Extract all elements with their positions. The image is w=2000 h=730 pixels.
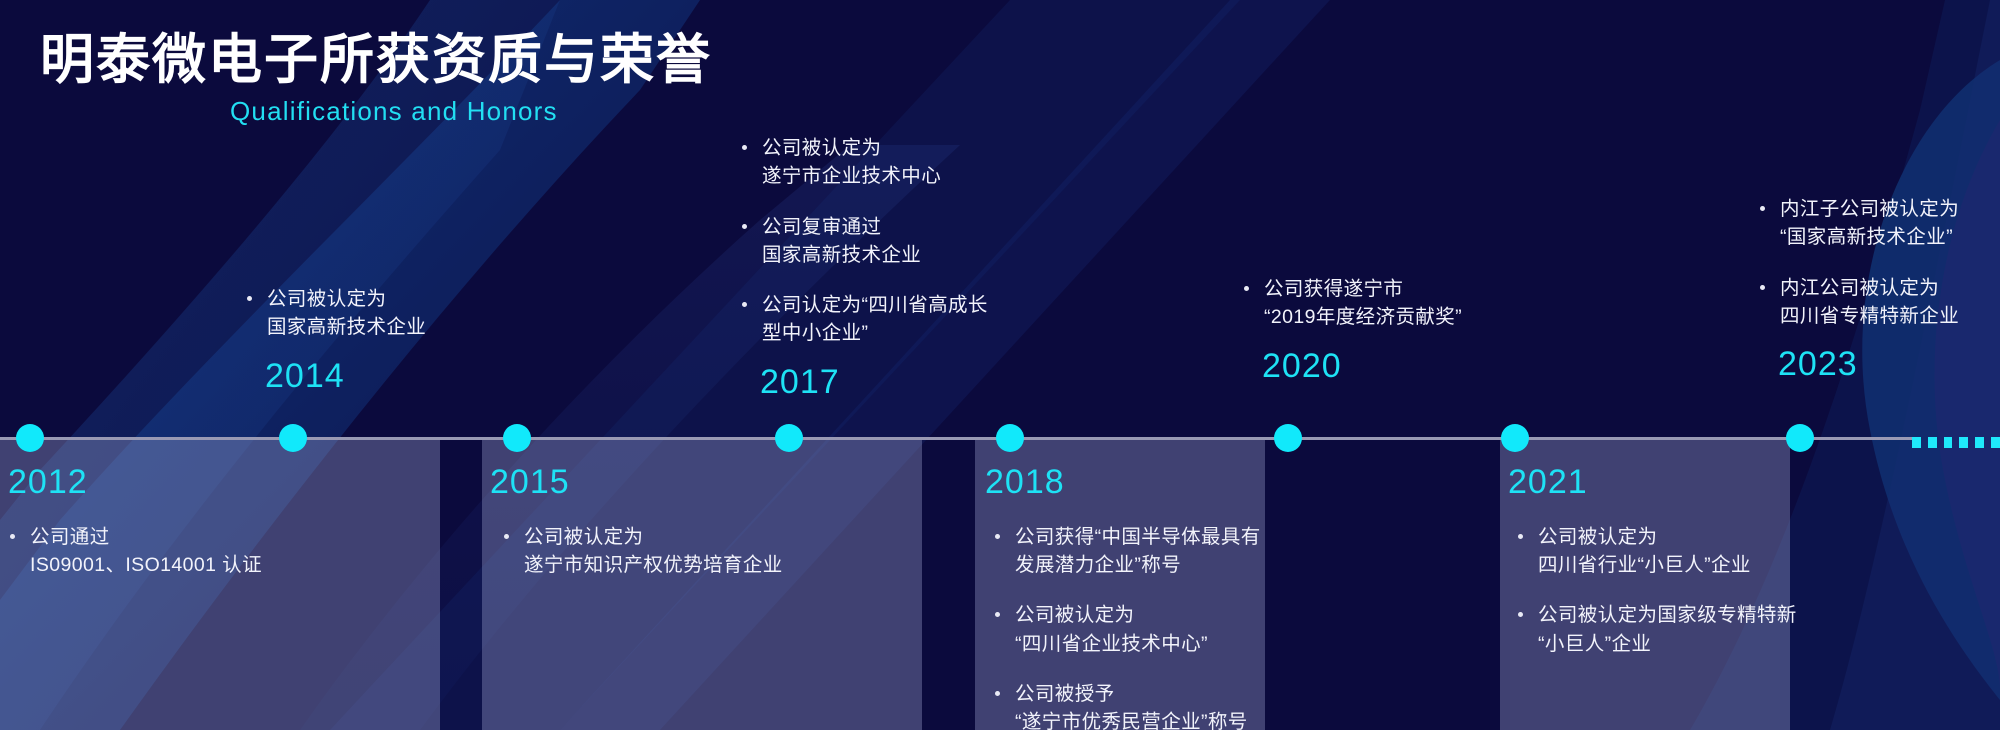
- bullet-list: 公司获得“中国半导体最具有 发展潜力企业”称号 公司被认定为 “四川省企业技术中…: [985, 523, 1285, 730]
- year-label: 2014: [245, 356, 515, 397]
- timeline-node-2015[interactable]: [503, 424, 531, 452]
- year-label: 2021: [1508, 462, 1828, 503]
- year-label: 2017: [740, 362, 1030, 403]
- bullet-list: 公司被认定为 四川省行业“小巨人”企业 公司被认定为国家级专精特新 “小巨人”企…: [1508, 523, 1828, 658]
- list-item: 公司获得遂宁市 “2019年度经济贡献奖”: [1242, 275, 1532, 332]
- bullet-line: “遂宁市优秀民营企业”称号: [1015, 708, 1285, 730]
- timeline-node-2018[interactable]: [996, 424, 1024, 452]
- bullet-line: “小巨人”企业: [1538, 630, 1828, 658]
- axis-dash-segment: [1928, 437, 1937, 448]
- axis-dash-segment: [1959, 437, 1968, 448]
- bullet-line: 公司被认定为: [524, 523, 790, 551]
- list-item: 公司被认定为 遂宁市企业技术中心: [740, 134, 1030, 191]
- year-label: 2012: [8, 462, 438, 503]
- timeline-entry-2014[interactable]: 公司被认定为 国家高新技术企业 2014: [245, 285, 515, 396]
- bullet-line: 公司复审通过: [762, 213, 1030, 241]
- bullet-list: 公司被认定为 国家高新技术企业: [245, 285, 515, 342]
- timeline-node-2021[interactable]: [1501, 424, 1529, 452]
- bullet-line: 公司获得“中国半导体最具有: [1015, 523, 1285, 551]
- bullet-line: 公司被认定为: [762, 134, 1030, 162]
- year-label: 2023: [1758, 344, 2000, 385]
- list-item: 公司被认定为 四川省行业“小巨人”企业: [1516, 523, 1828, 580]
- axis-dash-segment: [1944, 437, 1953, 448]
- timeline-infographic: 明泰微电子所获资质与荣誉 Qualifications and Honors 2…: [0, 0, 2000, 730]
- timeline-node-2017[interactable]: [775, 424, 803, 452]
- list-item: 内江公司被认定为 四川省专精特新企业: [1758, 274, 2000, 331]
- bullet-line: 公司被认定为国家级专精特新: [1538, 601, 1828, 629]
- bullet-list: 公司获得遂宁市 “2019年度经济贡献奖”: [1242, 275, 1532, 332]
- list-item: 公司复审通过 国家高新技术企业: [740, 213, 1030, 270]
- timeline-entry-2017[interactable]: 公司被认定为 遂宁市企业技术中心 公司复审通过 国家高新技术企业 公司认定为“四…: [740, 134, 1030, 402]
- bullet-list: 公司被认定为 遂宁市企业技术中心 公司复审通过 国家高新技术企业 公司认定为“四…: [740, 134, 1030, 348]
- bullet-line: 公司被认定为: [1538, 523, 1828, 551]
- axis-dash-segment: [1991, 437, 2000, 448]
- timeline-entry-2018[interactable]: 2018 公司获得“中国半导体最具有 发展潜力企业”称号 公司被认定为 “四川省…: [985, 462, 1285, 730]
- bullet-line: 内江公司被认定为: [1780, 274, 2000, 302]
- list-item: 公司认定为“四川省高成长 型中小企业”: [740, 291, 1030, 348]
- timeline-entry-2012[interactable]: 2012 公司通过 IS09001、ISO14001 认证: [8, 462, 438, 579]
- year-label: 2015: [490, 462, 790, 503]
- list-item: 公司被授予 “遂宁市优秀民营企业”称号: [993, 680, 1285, 730]
- bullet-line: 国家高新技术企业: [762, 241, 1030, 269]
- list-item: 公司被认定为国家级专精特新 “小巨人”企业: [1516, 601, 1828, 658]
- list-item: 公司获得“中国半导体最具有 发展潜力企业”称号: [993, 523, 1285, 580]
- timeline-node-2012[interactable]: [16, 424, 44, 452]
- bullet-line: 公司获得遂宁市: [1264, 275, 1532, 303]
- bullet-line: “2019年度经济贡献奖”: [1264, 303, 1532, 331]
- bullet-line: 公司被认定为: [1015, 601, 1285, 629]
- list-item: 公司被认定为 “四川省企业技术中心”: [993, 601, 1285, 658]
- timeline-entry-2015[interactable]: 2015 公司被认定为 遂宁市知识产权优势培育企业: [490, 462, 790, 579]
- year-label: 2020: [1242, 346, 1532, 387]
- list-item: 公司被认定为 国家高新技术企业: [245, 285, 515, 342]
- timeline-axis-dashes: [1912, 437, 2000, 448]
- timeline-entry-2023[interactable]: 内江子公司被认定为 “国家高新技术企业” 内江公司被认定为 四川省专精特新企业 …: [1758, 195, 2000, 385]
- bullet-line: 公司被授予: [1015, 680, 1285, 708]
- bullet-line: 公司被认定为: [267, 285, 515, 313]
- timeline-node-2014[interactable]: [279, 424, 307, 452]
- list-item: 公司被认定为 遂宁市知识产权优势培育企业: [502, 523, 790, 580]
- bullet-line: “国家高新技术企业”: [1780, 223, 2000, 251]
- bullet-list: 公司被认定为 遂宁市知识产权优势培育企业: [490, 523, 790, 580]
- page-subtitle: Qualifications and Honors: [230, 96, 712, 127]
- timeline-entry-2020[interactable]: 公司获得遂宁市 “2019年度经济贡献奖” 2020: [1242, 275, 1532, 386]
- bullet-line: IS09001、ISO14001 认证: [30, 551, 438, 579]
- timeline-entry-2021[interactable]: 2021 公司被认定为 四川省行业“小巨人”企业 公司被认定为国家级专精特新 “…: [1508, 462, 1828, 658]
- year-label: 2018: [985, 462, 1285, 503]
- bullet-list: 公司通过 IS09001、ISO14001 认证: [8, 523, 438, 580]
- bullet-line: 四川省专精特新企业: [1780, 302, 2000, 330]
- axis-dash-segment: [1975, 437, 1984, 448]
- list-item: 内江子公司被认定为 “国家高新技术企业”: [1758, 195, 2000, 252]
- bullet-line: 公司认定为“四川省高成长: [762, 291, 1030, 319]
- bullet-line: 四川省行业“小巨人”企业: [1538, 551, 1828, 579]
- bullet-list: 内江子公司被认定为 “国家高新技术企业” 内江公司被认定为 四川省专精特新企业: [1758, 195, 2000, 330]
- axis-dash-segment: [1912, 437, 1921, 448]
- bullet-line: 型中小企业”: [762, 319, 1030, 347]
- bullet-line: 国家高新技术企业: [267, 313, 515, 341]
- timeline-node-2023[interactable]: [1786, 424, 1814, 452]
- timeline-node-2020[interactable]: [1274, 424, 1302, 452]
- bullet-line: 公司通过: [30, 523, 438, 551]
- page-title: 明泰微电子所获资质与荣誉: [40, 30, 712, 90]
- bullet-line: 内江子公司被认定为: [1780, 195, 2000, 223]
- bullet-line: 遂宁市知识产权优势培育企业: [524, 551, 790, 579]
- bullet-line: 发展潜力企业”称号: [1015, 551, 1285, 579]
- bullet-line: 遂宁市企业技术中心: [762, 162, 1030, 190]
- list-item: 公司通过 IS09001、ISO14001 认证: [8, 523, 438, 580]
- bullet-line: “四川省企业技术中心”: [1015, 630, 1285, 658]
- header: 明泰微电子所获资质与荣誉 Qualifications and Honors: [40, 30, 712, 127]
